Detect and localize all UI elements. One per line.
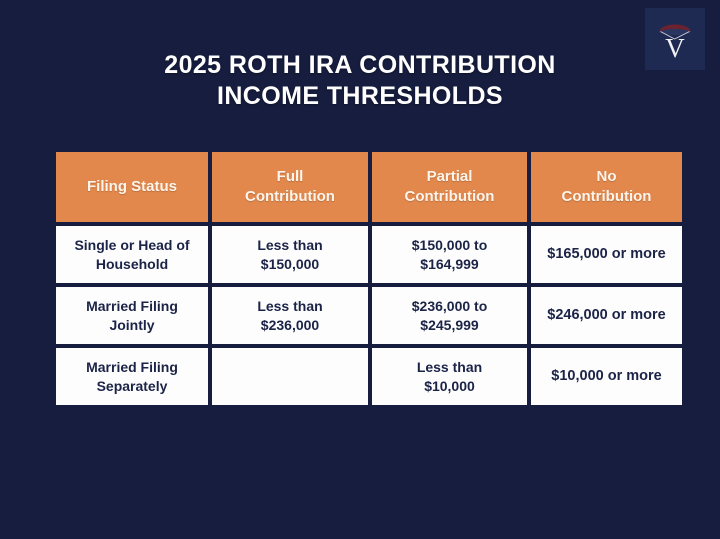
cell-partial-contribution: Less than $10,000 <box>372 348 527 405</box>
cell-line-2: Jointly <box>109 317 154 333</box>
cell-line-1: $236,000 to <box>412 298 488 314</box>
table-row: Single or Head of Household Less than $1… <box>56 226 682 283</box>
cell-line-2: $245,999 <box>420 317 478 333</box>
column-header-no-contribution: No Contribution <box>531 152 682 222</box>
cell-line-1: Married Filing <box>86 359 178 375</box>
cell-no-contribution: $246,000 or more <box>531 287 682 344</box>
column-header-line-1: Partial <box>427 168 473 185</box>
column-header-line-2: Contribution <box>245 188 335 205</box>
cell-full-contribution-empty <box>212 348 368 405</box>
cell-line-2: $164,999 <box>420 256 478 272</box>
table-header-row: Filing Status Full Contribution Partial … <box>56 152 682 222</box>
cell-filing-status: Married Filing Jointly <box>56 287 208 344</box>
column-header-filing-status: Filing Status <box>56 152 208 222</box>
cell-line-1: Less than <box>417 359 482 375</box>
cell-filing-status: Married Filing Separately <box>56 348 208 405</box>
cell-line-1: $165,000 or more <box>547 246 666 262</box>
table-row: Married Filing Jointly Less than $236,00… <box>56 287 682 344</box>
table-row: Married Filing Separately Less than $10,… <box>56 348 682 405</box>
column-header-line-1: Filing Status <box>87 178 177 195</box>
thresholds-table: Filing Status Full Contribution Partial … <box>52 148 686 409</box>
thresholds-table-container: Filing Status Full Contribution Partial … <box>52 148 666 409</box>
cell-no-contribution: $165,000 or more <box>531 226 682 283</box>
page-title-line-2: INCOME THRESHOLDS <box>60 81 660 112</box>
cell-line-1: Less than <box>257 298 322 314</box>
cell-full-contribution: Less than $236,000 <box>212 287 368 344</box>
column-header-line-1: No <box>597 168 617 185</box>
page-title-line-1: 2025 ROTH IRA CONTRIBUTION <box>60 50 660 81</box>
column-header-line-1: Full <box>277 168 304 185</box>
cell-partial-contribution: $236,000 to $245,999 <box>372 287 527 344</box>
cell-line-2: $236,000 <box>261 317 319 333</box>
table-body: Single or Head of Household Less than $1… <box>56 226 682 405</box>
cell-filing-status: Single or Head of Household <box>56 226 208 283</box>
cell-line-2: $10,000 <box>424 378 475 394</box>
cell-line-1: Less than <box>257 237 322 253</box>
column-header-line-2: Contribution <box>562 188 652 205</box>
cell-line-1: Married Filing <box>86 298 178 314</box>
cell-line-2: $150,000 <box>261 256 319 272</box>
page-title: 2025 ROTH IRA CONTRIBUTION INCOME THRESH… <box>0 50 720 112</box>
column-header-line-2: Contribution <box>405 188 495 205</box>
column-header-full-contribution: Full Contribution <box>212 152 368 222</box>
cell-line-1: Single or Head of <box>74 237 189 253</box>
cell-line-2: Separately <box>97 378 168 394</box>
cell-no-contribution: $10,000 or more <box>531 348 682 405</box>
cell-line-1: $10,000 or more <box>551 368 661 384</box>
cell-line-2: Household <box>96 256 168 272</box>
cell-line-1: $150,000 to <box>412 237 488 253</box>
table-header: Filing Status Full Contribution Partial … <box>56 152 682 222</box>
cell-full-contribution: Less than $150,000 <box>212 226 368 283</box>
cell-partial-contribution: $150,000 to $164,999 <box>372 226 527 283</box>
column-header-partial-contribution: Partial Contribution <box>372 152 527 222</box>
cell-line-1: $246,000 or more <box>547 307 666 323</box>
